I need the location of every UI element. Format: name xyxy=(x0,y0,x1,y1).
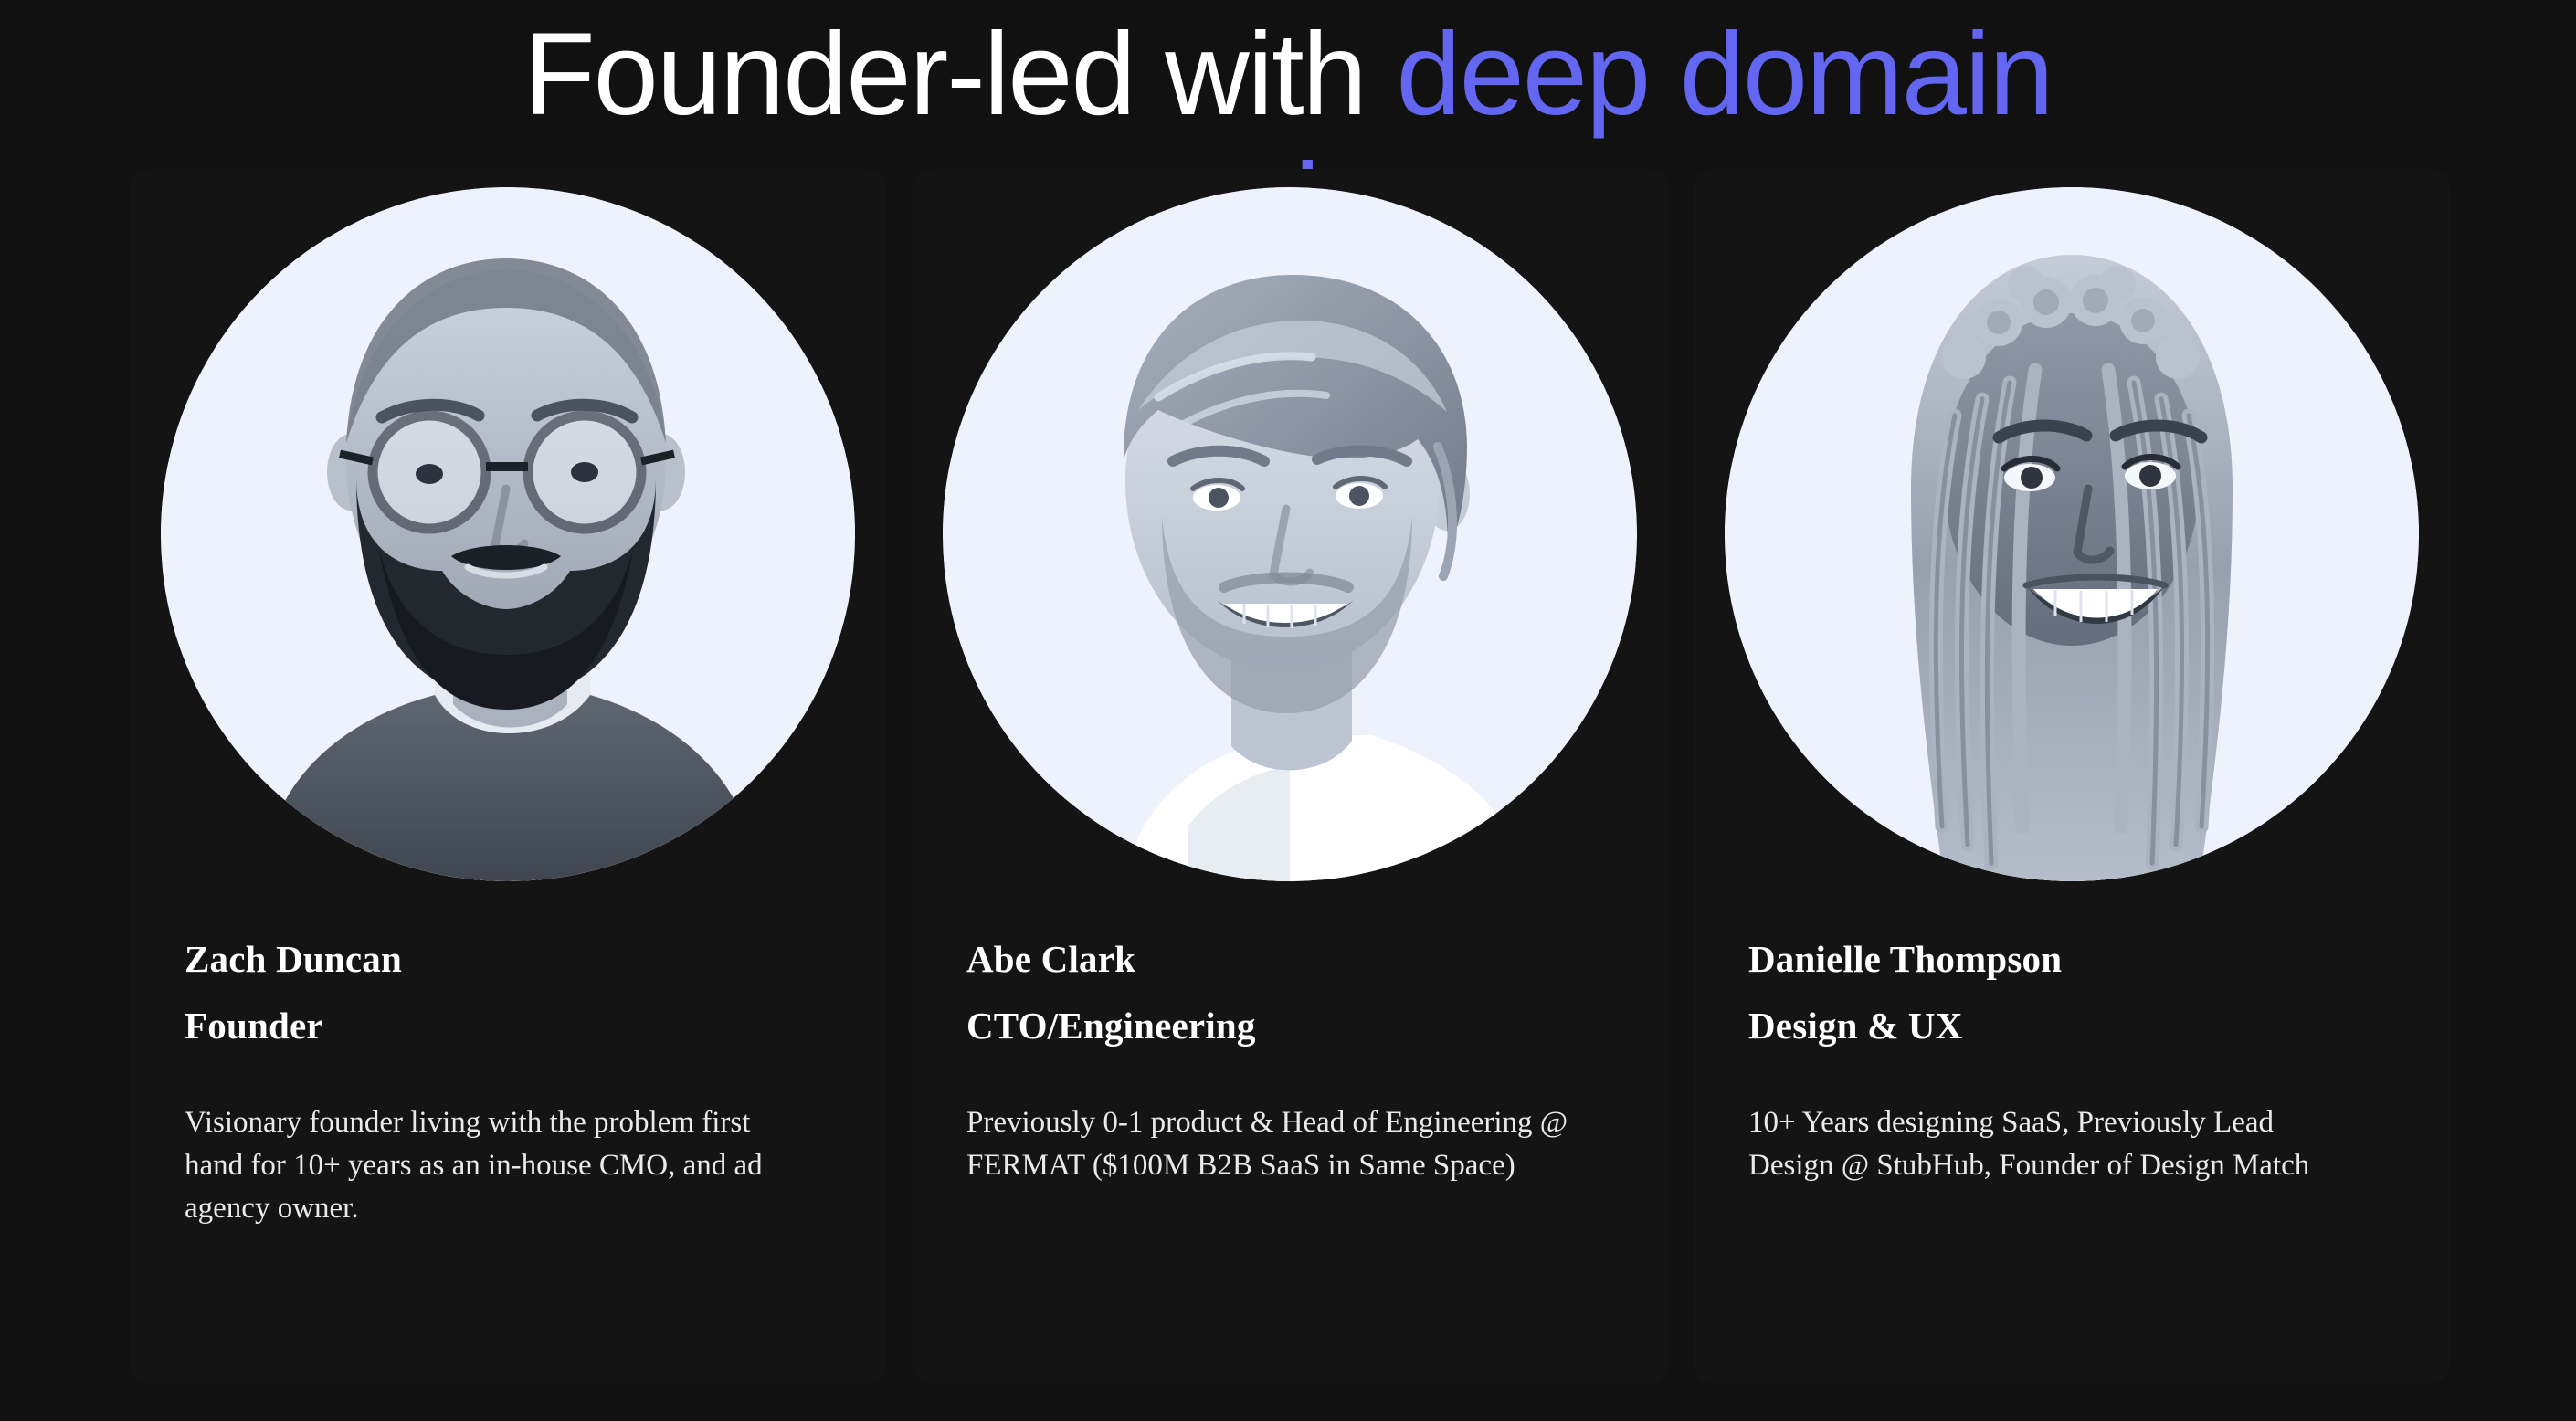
person-bio: 10+ Years designing SaaS, Previously Lea… xyxy=(1748,1101,2351,1187)
person-info: Danielle Thompson Design & UX 10+ Years … xyxy=(1748,941,2413,1187)
person-bio: Previously 0-1 product & Head of Enginee… xyxy=(966,1101,1569,1187)
person-bio: Visionary founder living with the proble… xyxy=(185,1101,787,1230)
avatar-wrap xyxy=(912,187,1668,881)
person-name: Danielle Thompson xyxy=(1748,941,2413,978)
team-section: Founder-led with deep domainexperience xyxy=(0,0,2576,1421)
avatar-wrap xyxy=(130,187,886,881)
person-name: Zach Duncan xyxy=(185,941,850,978)
page-title-accent-1: deep domain xyxy=(1396,9,2052,140)
person-info: Abe Clark CTO/Engineering Previously 0-1… xyxy=(966,941,1631,1187)
team-grid: Zach Duncan Founder Visionary founder li… xyxy=(130,169,2450,1384)
person-role: CTO/Engineering xyxy=(966,1007,1631,1045)
team-card-zach-duncan[interactable]: Zach Duncan Founder Visionary founder li… xyxy=(130,169,886,1384)
page-title-plain: Founder-led with xyxy=(523,9,1396,140)
avatar xyxy=(1725,187,2419,881)
avatar xyxy=(161,187,855,881)
team-card-abe-clark[interactable]: Abe Clark CTO/Engineering Previously 0-1… xyxy=(912,169,1668,1384)
avatar-wrap xyxy=(1694,187,2450,881)
person-info: Zach Duncan Founder Visionary founder li… xyxy=(185,941,850,1230)
person-role: Founder xyxy=(185,1007,850,1045)
person-role: Design & UX xyxy=(1748,1007,2413,1045)
person-name: Abe Clark xyxy=(966,941,1631,978)
avatar xyxy=(943,187,1637,881)
team-card-danielle-thompson[interactable]: Danielle Thompson Design & UX 10+ Years … xyxy=(1694,169,2450,1384)
